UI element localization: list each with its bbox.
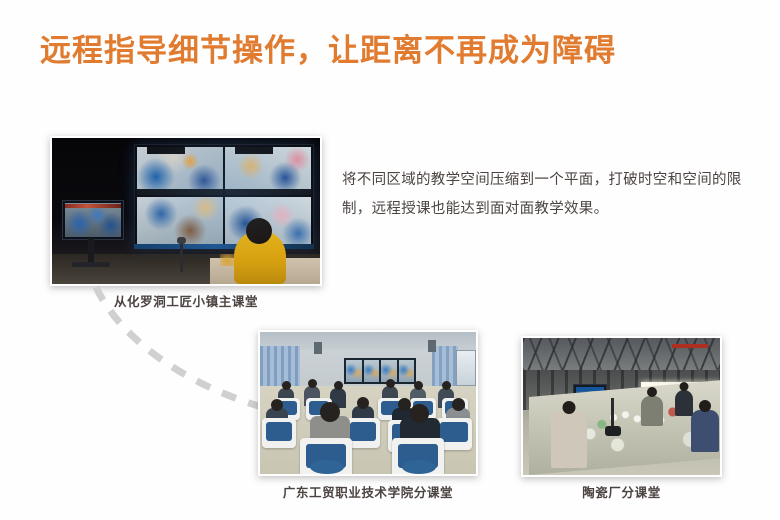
worker-figure: [641, 396, 663, 426]
worker-figure: [675, 390, 693, 416]
worker-head: [680, 382, 689, 391]
worker-head: [647, 387, 657, 397]
student-head: [442, 381, 451, 390]
monitor-stand: [88, 238, 94, 264]
student-head: [452, 398, 465, 411]
photo-branch-b-scene: [523, 338, 720, 475]
video-tile-footer: [137, 189, 223, 195]
student-head: [334, 381, 343, 390]
side-monitor-image: [65, 203, 121, 237]
worker-figure: [691, 410, 719, 452]
caption-branch-classroom-b: 陶瓷厂分课堂: [521, 482, 722, 501]
side-monitor: [62, 200, 124, 240]
student-head: [414, 381, 423, 390]
photo-branch-a-scene: [260, 332, 476, 474]
microphone-stand: [180, 242, 183, 272]
student-head: [398, 398, 411, 411]
video-wall-taskbar: [134, 244, 314, 249]
seat-cushion: [310, 460, 344, 474]
instructor-head: [246, 218, 272, 244]
worker-head: [699, 400, 711, 412]
side-monitor-banner: [65, 204, 121, 208]
photo-branch-classroom-b: [521, 336, 722, 477]
monitor-stand-base: [72, 262, 110, 267]
student-seating: [260, 332, 476, 474]
video-tile-footer: [225, 189, 311, 195]
student-head: [320, 402, 340, 422]
student-head: [410, 404, 429, 423]
task-lamp-head: [605, 426, 621, 436]
video-tile-titlebar: [147, 147, 185, 154]
video-tile-1: [137, 147, 223, 195]
led-video-wall: [134, 144, 314, 248]
slide-canvas: 远程指导细节操作，让距离不再成为障碍 将不同区域的教学空间压缩到一个平面，打破时…: [0, 0, 780, 520]
caption-main-classroom: 从化罗洞工匠小镇主课堂: [50, 291, 322, 310]
photo-branch-classroom-a: [258, 330, 478, 476]
photo-main-classroom: [50, 136, 322, 286]
page-title: 远程指导细节操作，让距离不再成为障碍: [40, 32, 616, 69]
body-paragraph: 将不同区域的教学空间压缩到一个平面，打破时空和空间的限制，远程授课也能达到面对面…: [342, 166, 742, 224]
caption-branch-classroom-a: 广东工贸职业技术学院分课堂: [258, 482, 478, 501]
student-head: [386, 379, 395, 388]
student-head: [271, 399, 283, 411]
video-tile-titlebar: [235, 147, 273, 154]
roof-red-beam: [672, 344, 708, 348]
chair: [262, 418, 296, 448]
microphone-head: [177, 237, 186, 244]
student-head: [357, 397, 369, 409]
student-head: [282, 381, 291, 390]
seat-cushion: [402, 460, 436, 474]
video-tile-2: [225, 147, 311, 195]
worker-head: [563, 401, 576, 414]
photo-main-scene: [52, 138, 320, 284]
student-head: [308, 379, 317, 388]
worker-figure: [551, 412, 587, 468]
